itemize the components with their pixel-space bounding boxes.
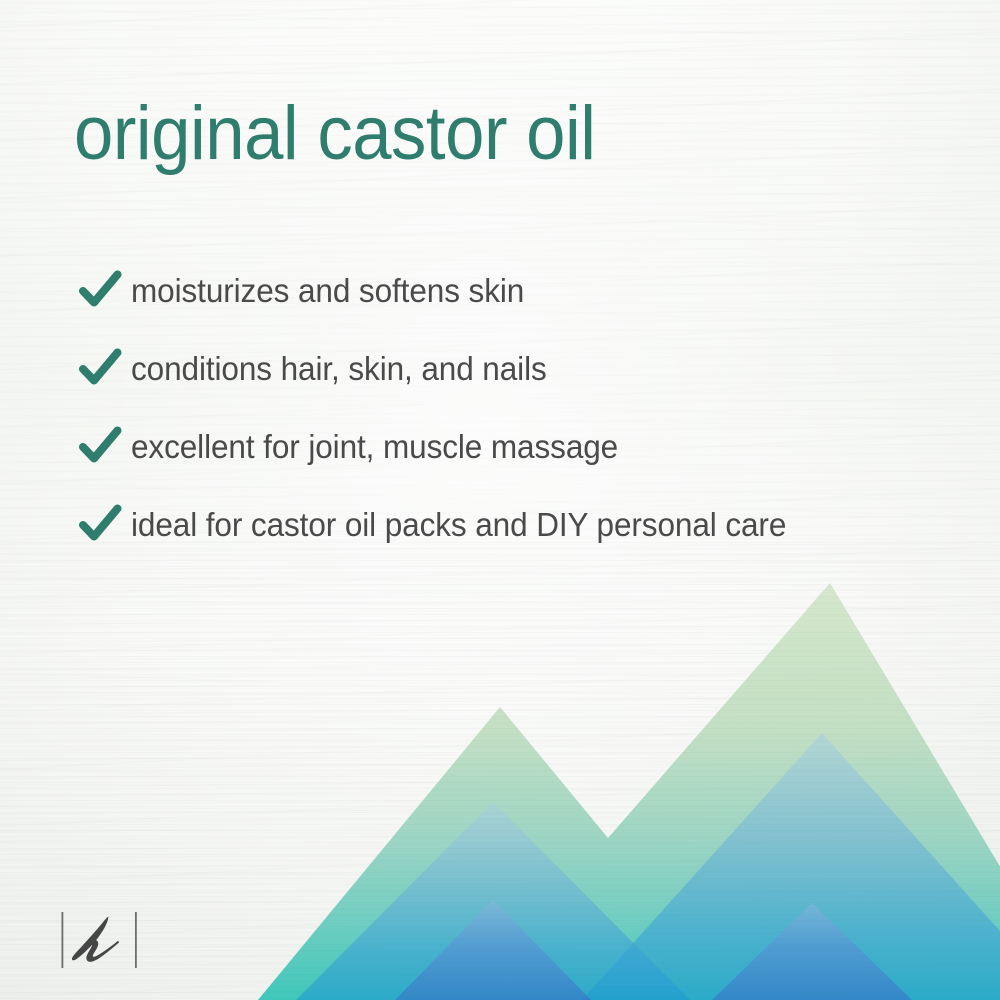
check-icon (78, 425, 122, 469)
poster-canvas: original castor oil moisturizes and soft… (0, 0, 1000, 1000)
list-item: ideal for castor oil packs and DIY perso… (78, 486, 958, 564)
list-item-label: ideal for castor oil packs and DIY perso… (131, 506, 786, 544)
list-item-label: moisturizes and softens skin (131, 272, 524, 310)
list-item: excellent for joint, muscle massage (78, 408, 958, 486)
logo-rule-right (135, 912, 137, 968)
list-item: conditions hair, skin, and nails (78, 330, 958, 408)
logo-rule-left (62, 912, 64, 968)
page-title: original castor oil (74, 96, 596, 172)
list-item-label: excellent for joint, muscle massage (131, 428, 618, 466)
check-icon (78, 347, 122, 391)
list-item: moisturizes and softens skin (78, 252, 958, 330)
check-icon (78, 503, 122, 547)
check-icon (78, 269, 122, 313)
logo-monogram-h (72, 917, 119, 962)
brand-logo (56, 906, 146, 974)
benefits-list: moisturizes and softens skin conditions … (78, 252, 958, 564)
artwork-grain-overlay (0, 540, 1000, 1000)
list-item-label: conditions hair, skin, and nails (131, 350, 547, 388)
